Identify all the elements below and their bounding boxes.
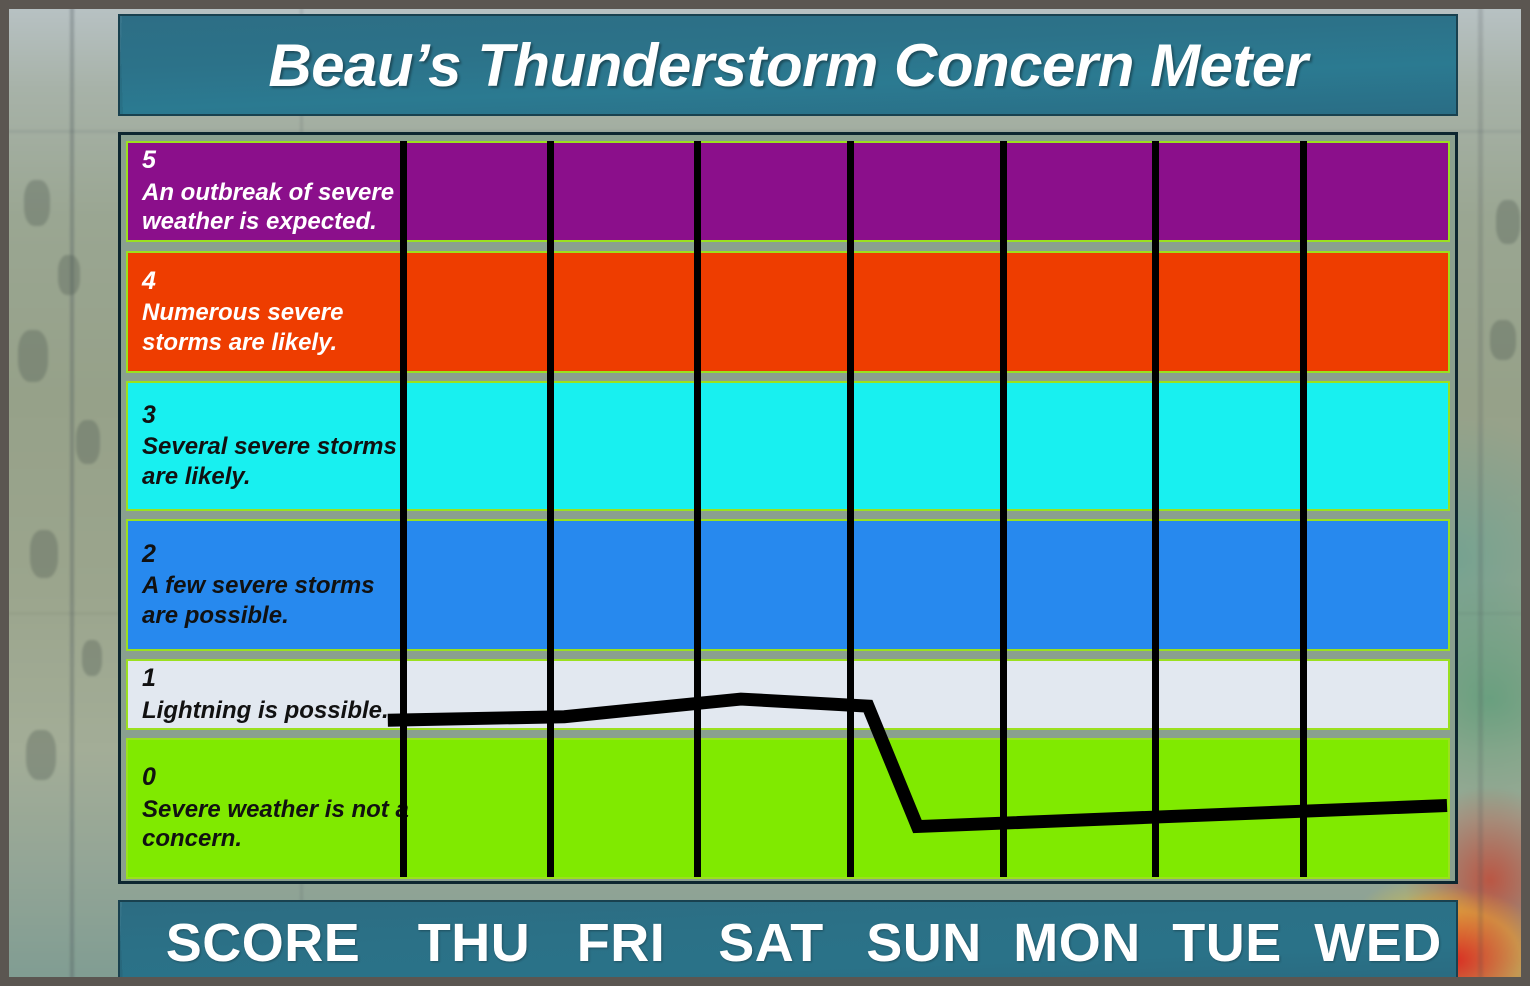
axis-label-wed: WED	[1302, 902, 1454, 984]
page-title: Beau’s Thunderstorm Concern Meter	[268, 31, 1307, 100]
axis-label-sun: SUN	[849, 902, 999, 984]
day-label-bar: SCORE THU FRI SAT SUN MON TUE WED	[118, 900, 1458, 986]
axis-label-tue: TUE	[1154, 902, 1300, 984]
axis-label-score: SCORE	[128, 902, 398, 984]
axis-label-mon: MON	[1002, 902, 1152, 984]
axis-label-sat: SAT	[696, 902, 846, 984]
axis-label-thu: THU	[402, 902, 546, 984]
image-border	[0, 0, 1530, 986]
axis-label-fri: FRI	[549, 902, 693, 984]
